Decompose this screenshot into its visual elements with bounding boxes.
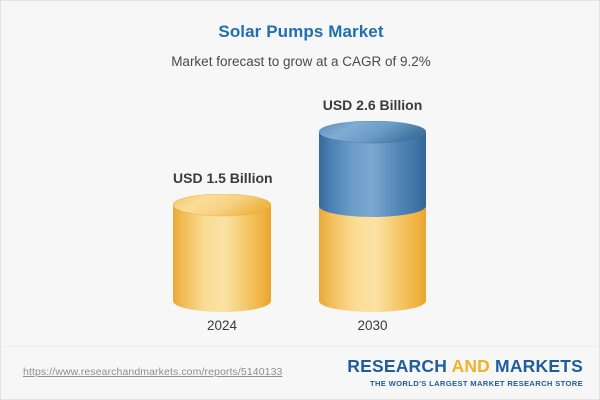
bar-chart: USD 1.5 Billion bbox=[1, 1, 600, 346]
logo-word-markets: MARKETS bbox=[490, 356, 583, 376]
infographic-card: Solar Pumps Market Market forecast to gr… bbox=[0, 0, 600, 400]
footer: https://www.researchandmarkets.com/repor… bbox=[1, 347, 600, 400]
bar-category-label-2030: 2030 bbox=[319, 317, 426, 335]
logo-word-research: RESEARCH bbox=[347, 356, 451, 376]
logo-tagline: THE WORLD'S LARGEST MARKET RESEARCH STOR… bbox=[347, 377, 583, 389]
logo-wordmark: RESEARCH AND MARKETS bbox=[347, 356, 583, 377]
bar-group-2024: USD 1.5 Billion bbox=[173, 1, 271, 346]
cylinder-2030 bbox=[319, 121, 426, 312]
research-and-markets-logo[interactable]: RESEARCH AND MARKETS THE WORLD'S LARGEST… bbox=[347, 356, 583, 389]
bar-value-label-2024: USD 1.5 Billion bbox=[173, 169, 271, 187]
cylinder-2024 bbox=[173, 194, 271, 312]
report-url-link[interactable]: https://www.researchandmarkets.com/repor… bbox=[23, 365, 282, 379]
bar-group-2030: USD 2.6 Billion bbox=[319, 1, 426, 346]
bar-category-label-2024: 2024 bbox=[173, 317, 271, 335]
logo-word-and: AND bbox=[451, 356, 490, 376]
bar-value-label-2030: USD 2.6 Billion bbox=[319, 96, 426, 114]
